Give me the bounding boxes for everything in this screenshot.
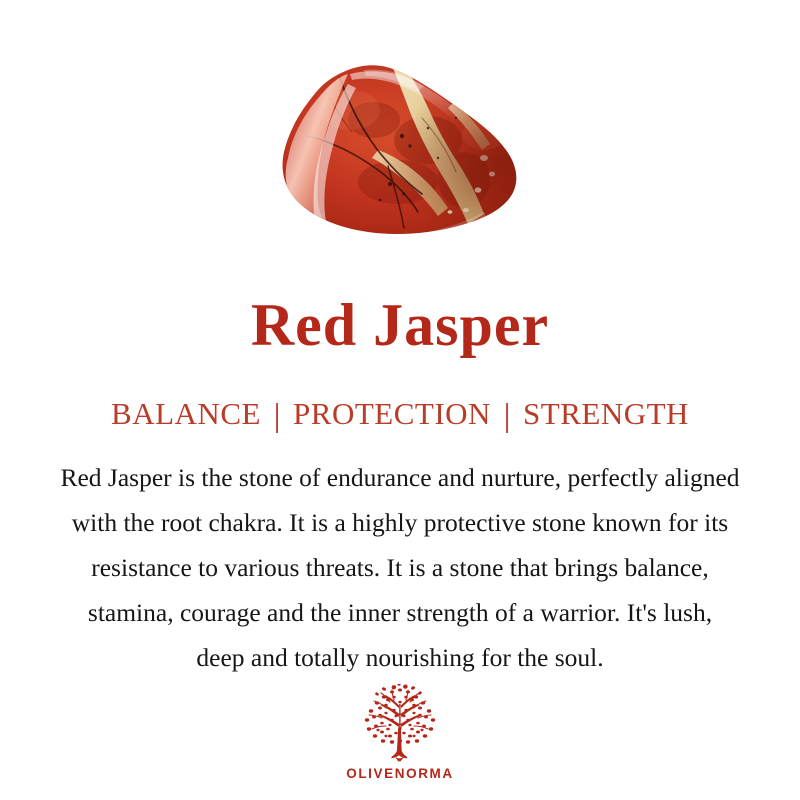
tree-of-life-icon	[356, 684, 444, 764]
description-line: resistance to various threats. It is a s…	[14, 545, 786, 590]
attribute-separator: |	[274, 398, 281, 434]
brand-logo: OLIVENORMA	[0, 684, 800, 781]
description-line: with the root chakra. It is a highly pro…	[14, 500, 786, 545]
attribute-separator: |	[504, 398, 511, 434]
description-line: deep and totally nourishing for the soul…	[14, 635, 786, 680]
attribute-list: BALANCE | PROTECTION | STRENGTH	[0, 396, 800, 432]
attribute-strength: STRENGTH	[523, 396, 689, 431]
attribute-protection: PROTECTION	[293, 396, 491, 431]
brand-name: OLIVENORMA	[346, 766, 454, 781]
red-jasper-stone-image	[278, 62, 526, 242]
description-line: Red Jasper is the stone of endurance and…	[14, 455, 786, 500]
description-line: stamina, courage and the inner strength …	[14, 590, 786, 635]
product-info-card: Red Jasper BALANCE | PROTECTION | STRENG…	[0, 0, 800, 800]
page-title: Red Jasper	[0, 294, 800, 356]
product-description: Red Jasper is the stone of endurance and…	[14, 455, 786, 680]
stone-illustration	[278, 62, 526, 242]
attribute-balance: BALANCE	[111, 396, 261, 431]
